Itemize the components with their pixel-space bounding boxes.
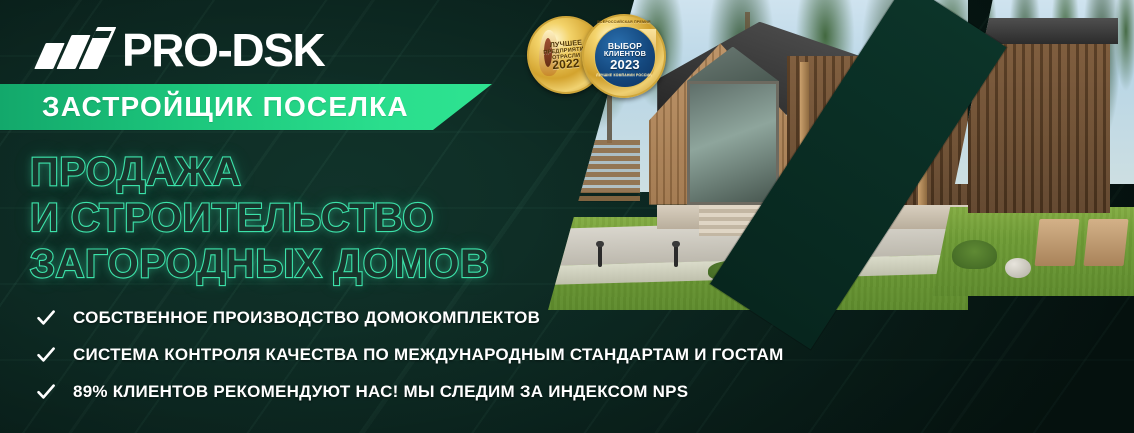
medal-2023-bottom-caption: ЛУЧШИЕ КОМПАНИИ РОССИИ <box>584 74 664 78</box>
list-item: 89% КЛИЕНТОВ РЕКОМЕНДУЮТ НАС! МЫ СЛЕДИМ … <box>36 382 783 402</box>
panoramic-window <box>687 81 779 205</box>
list-item-label: СИСТЕМА КОНТРОЛЯ КАЧЕСТВА ПО МЕЖДУНАРОДН… <box>73 345 783 365</box>
medal-2023-year: 2023 <box>595 58 656 72</box>
subtitle-banner: ЗАСТРОЙЩИК ПОСЕЛКА <box>0 84 492 130</box>
promo-banner: ЛУЧШЕЕ ПРЕДПРИЯТИЕ ОТРАСЛИ 2022 ВЫБОР КЛ… <box>0 0 1134 433</box>
logo-bar-notch <box>92 31 111 38</box>
headline-line-3: ЗАГОРОДНЫХ ДОМОВ <box>30 244 489 284</box>
shrub <box>952 240 996 270</box>
brand-name: PRO-DSK <box>122 27 324 73</box>
medal-2023-top-caption: ВСЕРОССИЙСКАЯ ПРЕМИЯ <box>584 21 664 25</box>
headline: ПРОДАЖА И СТРОИТЕЛЬСТВО ЗАГОРОДНЫХ ДОМОВ <box>30 152 489 284</box>
brand-logo[interactable]: PRO-DSK <box>38 27 324 73</box>
garden-chair <box>1083 219 1128 266</box>
garden-lamp <box>598 245 602 267</box>
decorative-stone <box>1005 258 1031 279</box>
list-item-label: СОБСТВЕННОЕ ПРОИЗВОДСТВО ДОМОКОМПЛЕКТОВ <box>73 308 540 328</box>
garden-lamp <box>674 245 678 267</box>
medal-2023: ВЫБОР КЛИЕНТОВ 2023 ВСЕРОССИЙСКАЯ ПРЕМИЯ… <box>582 14 666 98</box>
feature-list: СОБСТВЕННОЕ ПРОИЗВОДСТВО ДОМОКОМПЛЕКТОВ … <box>36 308 783 402</box>
headline-line-2: И СТРОИТЕЛЬСТВО <box>30 198 489 238</box>
list-item: СИСТЕМА КОНТРОЛЯ КАЧЕСТВА ПО МЕЖДУНАРОДН… <box>36 345 783 365</box>
subtitle-text: ЗАСТРОЙЩИК ПОСЕЛКА <box>42 91 409 123</box>
award-medals: ЛУЧШЕЕ ПРЕДПРИЯТИЕ ОТРАСЛИ 2022 ВЫБОР КЛ… <box>527 14 667 92</box>
check-icon <box>36 345 56 365</box>
check-icon <box>36 308 56 328</box>
three-slanted-bars-icon <box>38 27 112 73</box>
garden-chair <box>1035 219 1080 266</box>
headline-line-1: ПРОДАЖА <box>30 152 489 192</box>
check-icon <box>36 382 56 402</box>
list-item-label: 89% КЛИЕНТОВ РЕКОМЕНДУЮТ НАС! МЫ СЛЕДИМ … <box>73 382 688 402</box>
lawn <box>932 207 1134 296</box>
list-item: СОБСТВЕННОЕ ПРОИЗВОДСТВО ДОМОКОМПЛЕКТОВ <box>36 308 783 328</box>
medal-2023-center: ВЫБОР КЛИЕНТОВ 2023 <box>594 26 657 89</box>
